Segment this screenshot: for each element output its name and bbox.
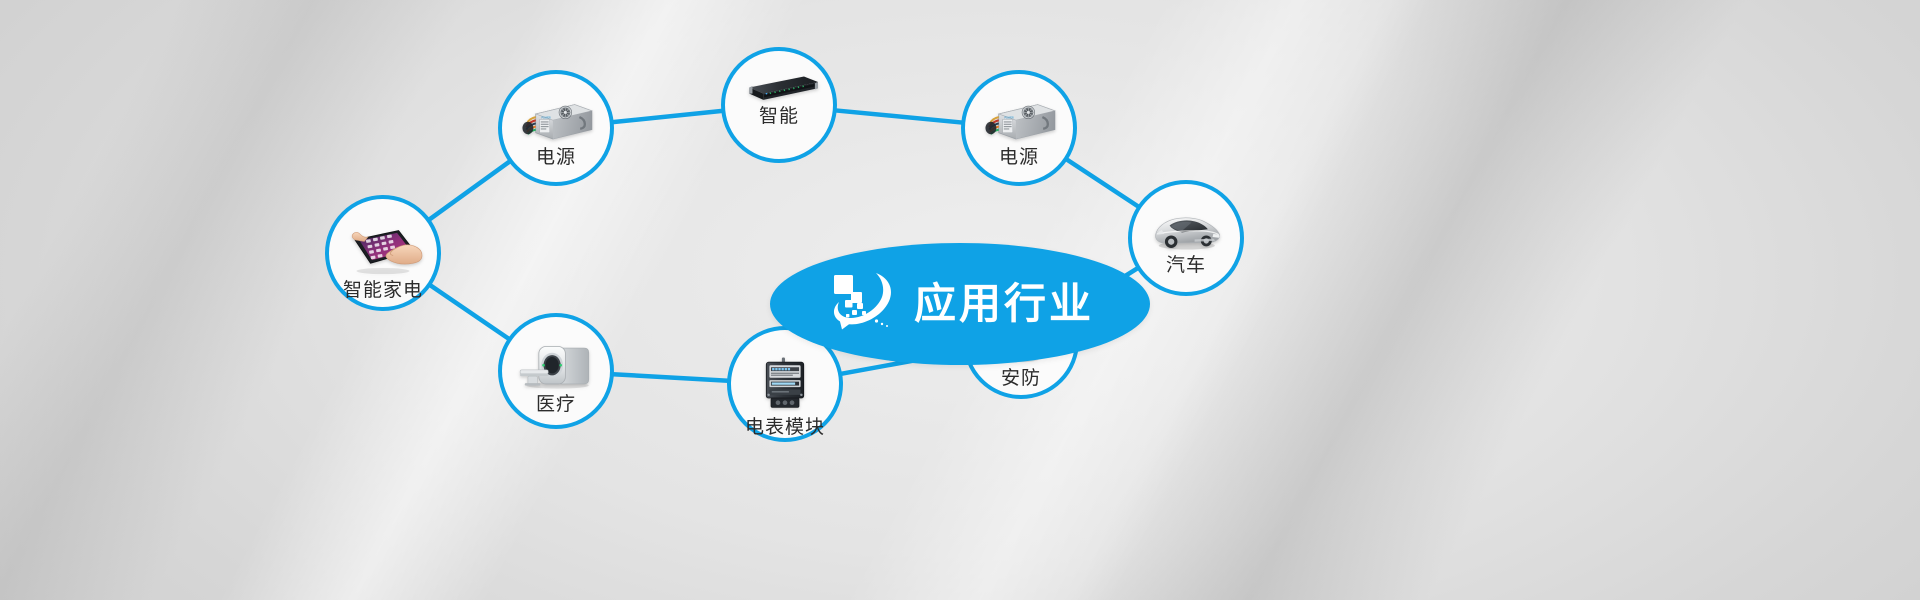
node-label-appliance: 智能家电: [343, 281, 423, 300]
node-label-power-left: 电源: [536, 148, 576, 167]
power-supply-icon: POWER: [982, 98, 1057, 143]
center-badge-label: 应用行业: [914, 283, 1094, 325]
node-label-meter: 电表模块: [745, 418, 825, 437]
node-smart[interactable]: 智能: [721, 47, 837, 163]
node-power-right[interactable]: POWER 电源: [961, 70, 1077, 186]
node-label-security: 安防: [1001, 369, 1041, 388]
power-supply-icon: POWER: [519, 98, 594, 143]
node-power-left[interactable]: POWER 电源: [498, 70, 614, 186]
node-medical[interactable]: 医疗: [498, 313, 614, 429]
center-badge[interactable]: 应用行业: [770, 243, 1150, 365]
banner-canvas: POWER 电源: [0, 0, 1920, 600]
rack-server-icon: [738, 73, 819, 104]
pixel-orbit-logo-icon: [826, 269, 900, 339]
connector-power-right-to-automotive: [1067, 159, 1139, 206]
node-appliance[interactable]: 智能家电: [325, 195, 441, 311]
svg-text:POWER: POWER: [1005, 116, 1014, 120]
connector-meter-to-medical: [613, 374, 728, 381]
node-label-smart: 智能: [759, 107, 799, 126]
node-label-medical: 医疗: [536, 395, 576, 414]
tablet-hand-icon: [342, 224, 423, 275]
node-label-automotive: 汽车: [1166, 256, 1206, 275]
connector-appliance-to-power-left: [429, 161, 510, 219]
sports-car-icon: [1148, 208, 1224, 252]
svg-text:POWER: POWER: [542, 116, 551, 120]
connector-medical-to-appliance: [430, 285, 509, 339]
electric-meter-icon: [760, 356, 810, 412]
mri-scanner-icon: [517, 342, 595, 390]
node-label-power-right: 电源: [999, 148, 1039, 167]
node-automotive[interactable]: 汽车: [1128, 180, 1244, 296]
connector-power-left-to-smart: [613, 111, 723, 122]
connector-smart-to-power-right: [836, 110, 963, 122]
